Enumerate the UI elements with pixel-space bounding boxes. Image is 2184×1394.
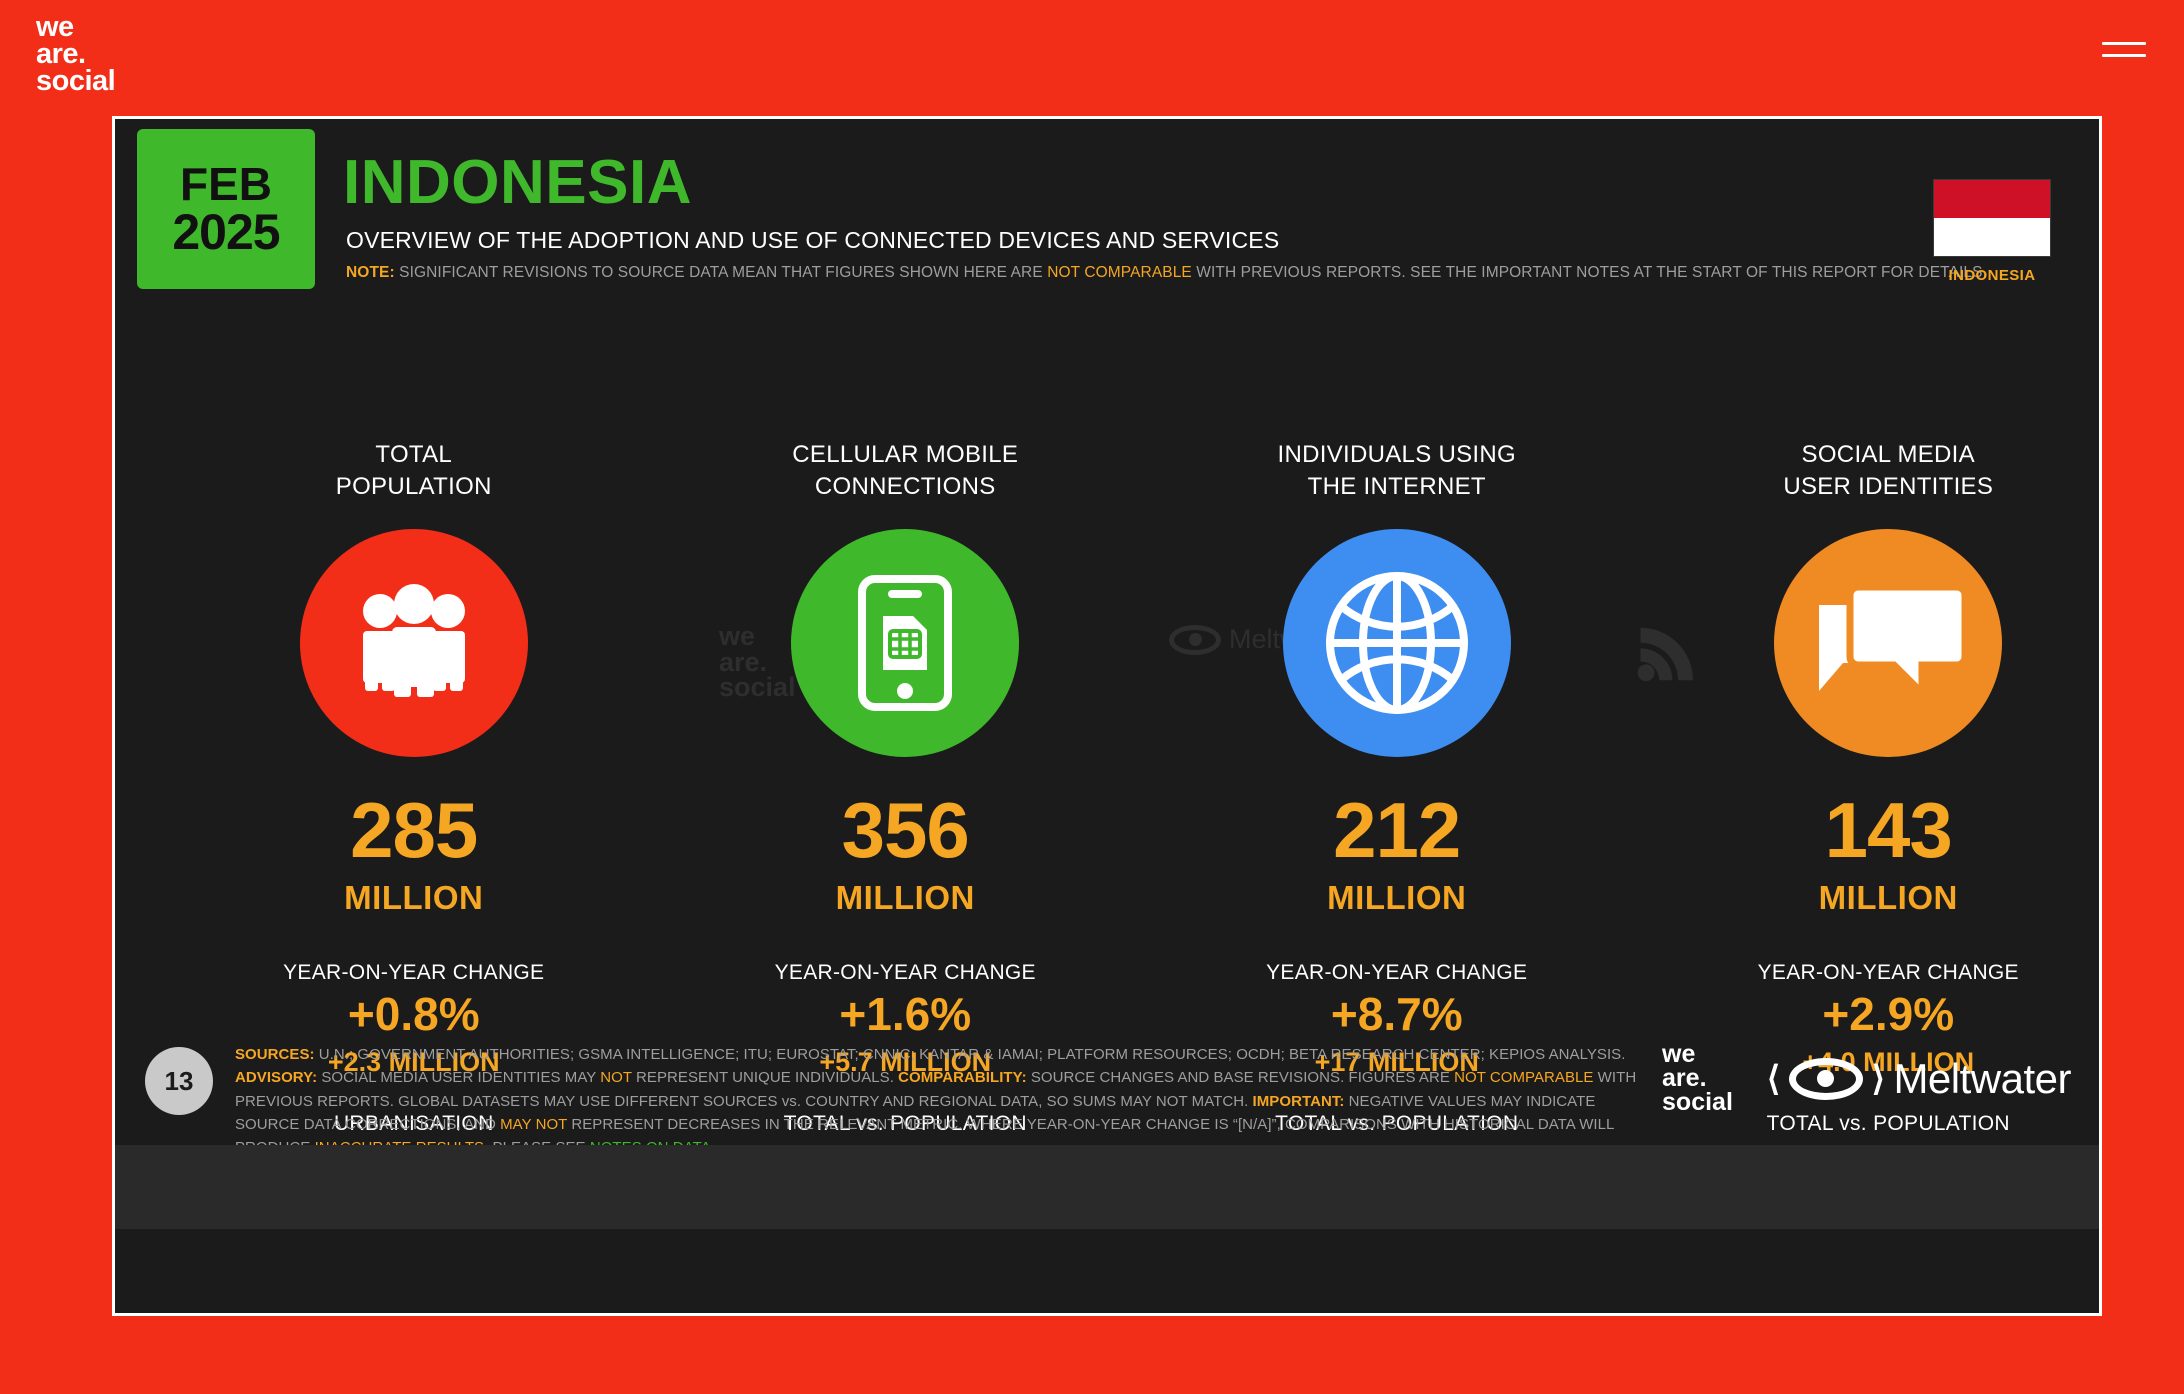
date-badge: FEB 2025 [137,129,315,289]
footer-logo-line-2: are. [1662,1067,1733,1091]
date-year: 2025 [172,207,279,257]
note-text-1: SIGNIFICANT REVISIONS TO SOURCE DATA MEA… [395,264,1047,281]
sources-label: SOURCES: [235,1046,315,1063]
country-flag-block: INDONESIA [1933,179,2051,284]
advisory-label: ADVISORY: [235,1069,317,1086]
logo-line-1: we [36,14,115,41]
column-heading: INDIVIDUALS USING THE INTERNET [1186,439,1608,515]
column-heading: CELLULAR MOBILE CONNECTIONS [695,439,1117,515]
yoy-label: YEAR-ON-YEAR CHANGE [1678,961,2100,985]
note-highlight: NOT COMPARABLE [1047,264,1192,281]
slide-footer: 13 SOURCES: U.N.; GOVERNMENT AUTHORITIES… [115,1025,2099,1145]
important-label: IMPORTANT: [1253,1093,1345,1110]
stat-unit: MILLION [695,879,1117,917]
date-month: FEB [180,161,272,207]
hamburger-menu-icon[interactable] [2102,42,2146,68]
column-heading-line-1: TOTAL [203,439,625,471]
stat-unit: MILLION [203,879,625,917]
advisory-text-2: REPRESENT UNIQUE INDIVIDUALS. [632,1069,898,1086]
comparability-text-1: SOURCE CHANGES AND BASE REVISIONS. FIGUR… [1027,1069,1455,1086]
page-subtitle: OVERVIEW OF THE ADOPTION AND USE OF CONN… [346,227,1279,254]
people-group-icon [300,529,528,757]
we-are-social-footer-logo: we are. social [1662,1043,1733,1114]
stat-value: 285 [203,791,625,869]
column-heading: SOCIAL MEDIA USER IDENTITIES [1678,439,2100,515]
footer-logos: we are. social ⟨ ⟩ Meltwater [1662,1043,2071,1114]
stat-value: 212 [1186,791,1608,869]
slide-bottom-strip [115,1145,2099,1229]
meltwater-wordmark: Meltwater [1893,1055,2071,1103]
note-label: NOTE: [346,264,395,281]
slide-content: FEB 2025 INDONESIA OVERVIEW OF THE ADOPT… [115,119,2099,1229]
sources-body: U.N.; GOVERNMENT AUTHORITIES; GSMA INTEL… [315,1046,1626,1063]
chevron-right-icon: ⟩ [1872,1059,1885,1099]
important-may-not: MAY NOT [500,1116,567,1133]
advisory-not: NOT [600,1069,632,1086]
flag-label: INDONESIA [1933,267,2051,284]
meltwater-footer-logo: ⟨ ⟩ Meltwater [1767,1055,2071,1103]
page-title: INDONESIA [343,147,692,218]
column-heading-line-1: CELLULAR MOBILE [695,439,1117,471]
note-text-2: WITH PREVIOUS REPORTS. SEE THE IMPORTANT… [1192,264,1987,281]
stat-value: 356 [695,791,1117,869]
logo-line-3: social [36,68,115,95]
yoy-label: YEAR-ON-YEAR CHANGE [695,961,1117,985]
globe-icon [1283,529,1511,757]
stat-unit: MILLION [1186,879,1608,917]
flag-stripe-red [1934,180,2050,218]
slide-frame: FEB 2025 INDONESIA OVERVIEW OF THE ADOPT… [112,116,2102,1316]
advisory-text-1: SOCIAL MEDIA USER IDENTITIES MAY [317,1069,600,1086]
hamburger-bar [2102,42,2146,45]
page-number-badge: 13 [145,1047,213,1115]
comparability-highlight: NOT COMPARABLE [1454,1069,1593,1086]
column-heading-line-2: CONNECTIONS [695,471,1117,503]
chevron-left-icon: ⟨ [1767,1059,1780,1099]
column-heading-line-2: USER IDENTITIES [1678,471,2100,503]
footer-logo-line-3: social [1662,1091,1733,1115]
meltwater-eye-icon [1789,1058,1863,1100]
column-heading: TOTAL POPULATION [203,439,625,515]
speech-bubbles-icon [1774,529,2002,757]
we-are-social-logo[interactable]: we are. social [36,14,115,95]
column-heading-line-1: SOCIAL MEDIA [1678,439,2100,471]
stat-unit: MILLION [1678,879,2100,917]
column-heading-line-2: POPULATION [203,471,625,503]
stat-value: 143 [1678,791,2100,869]
hamburger-bar [2102,54,2146,57]
yoy-label: YEAR-ON-YEAR CHANGE [1186,961,1608,985]
comparability-label: COMPARABILITY: [898,1069,1026,1086]
indonesia-flag-icon [1933,179,2051,257]
column-heading-line-2: THE INTERNET [1186,471,1608,503]
header-note: NOTE: SIGNIFICANT REVISIONS TO SOURCE DA… [346,264,1987,282]
flag-stripe-white [1934,218,2050,256]
logo-line-2: are. [36,41,115,68]
mobile-sim-icon [791,529,1019,757]
sources-text: SOURCES: U.N.; GOVERNMENT AUTHORITIES; G… [235,1043,1655,1159]
column-heading-line-1: INDIVIDUALS USING [1186,439,1608,471]
top-bar: we are. social [0,0,2184,118]
yoy-label: YEAR-ON-YEAR CHANGE [203,961,625,985]
